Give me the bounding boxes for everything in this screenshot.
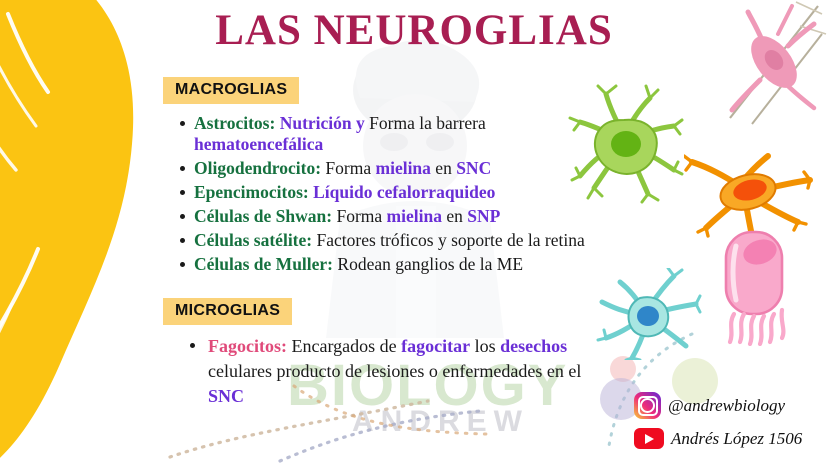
- youtube-handle: Andrés López 1506: [671, 429, 802, 449]
- keyword: SNP: [467, 206, 500, 226]
- term-label: Oligodendrocito:: [194, 158, 321, 178]
- slide-canvas: BIOLOGY ANDREW: [0, 0, 828, 466]
- body-text: los: [475, 336, 496, 356]
- instagram-handle-row[interactable]: @andrewbiology: [634, 392, 785, 419]
- body-text: Forma: [325, 158, 371, 178]
- schwann-cell-orange-illustration: [684, 152, 814, 238]
- instagram-handle: @andrewbiology: [668, 396, 785, 416]
- youtube-icon[interactable]: [634, 428, 664, 449]
- microglia-teal-illustration: [596, 268, 702, 360]
- list-item: Células de Muller: Rodean ganglios de la…: [178, 254, 598, 275]
- body-text: Encargados de: [291, 336, 396, 356]
- list-item: Células de Shwan: Forma mielina en SNP: [178, 206, 598, 227]
- section-tag-microglias: MICROGLIAS: [163, 298, 292, 325]
- body-text: Forma la barrera: [369, 113, 486, 133]
- term-label: Células satélite:: [194, 230, 312, 250]
- term-label: Células de Shwan:: [194, 206, 332, 226]
- list-item: Fagocitos: Encargados de fagocitar los d…: [190, 334, 610, 409]
- section-tag-macroglias: MACROGLIAS: [163, 77, 299, 104]
- body-text: Rodean ganglios de la ME: [337, 254, 523, 274]
- keyword: Líquido cefalorraquideo: [313, 182, 495, 202]
- page-title: LAS NEUROGLIAS: [0, 6, 828, 55]
- soft-circle-pink: [610, 356, 636, 382]
- keyword: fagocitar: [401, 336, 470, 356]
- body-text: en: [446, 206, 463, 226]
- instagram-icon[interactable]: [634, 392, 661, 419]
- keyword: desechos: [500, 336, 567, 356]
- keyword: hematoencefálica: [194, 134, 323, 154]
- keyword: mielina: [387, 206, 442, 226]
- body-text: Forma: [336, 206, 382, 226]
- keyword: SNC: [456, 158, 491, 178]
- term-label: Células de Muller:: [194, 254, 333, 274]
- body-text: Factores tróficos y soporte de la retina: [316, 230, 584, 250]
- ependymal-cell-pink-illustration: [700, 228, 806, 346]
- body-text: en: [435, 158, 452, 178]
- keyword: SNC: [208, 386, 244, 406]
- term-label: Fagocitos:: [208, 336, 287, 356]
- body-text: celulares producto de lesiones o enferme…: [208, 361, 581, 381]
- term-label: Epencimocitos:: [194, 182, 309, 202]
- list-item: Astrocitos: Nutrición y Forma la barrera…: [178, 113, 598, 155]
- keyword: Nutrición y: [280, 113, 365, 133]
- keyword: mielina: [376, 158, 431, 178]
- term-label: Astrocitos:: [194, 113, 275, 133]
- yellow-brush-decoration: [0, 0, 180, 466]
- youtube-handle-row[interactable]: Andrés López 1506: [634, 428, 802, 449]
- microglias-list: Fagocitos: Encargados de fagocitar los d…: [190, 334, 610, 412]
- list-item: Células satélite: Factores tróficos y so…: [178, 230, 598, 251]
- list-item: Oligodendrocito: Forma mielina en SNC: [178, 158, 598, 179]
- list-item: Epencimocitos: Líquido cefalorraquideo: [178, 182, 598, 203]
- macroglias-list: Astrocitos: Nutrición y Forma la barrera…: [178, 113, 598, 278]
